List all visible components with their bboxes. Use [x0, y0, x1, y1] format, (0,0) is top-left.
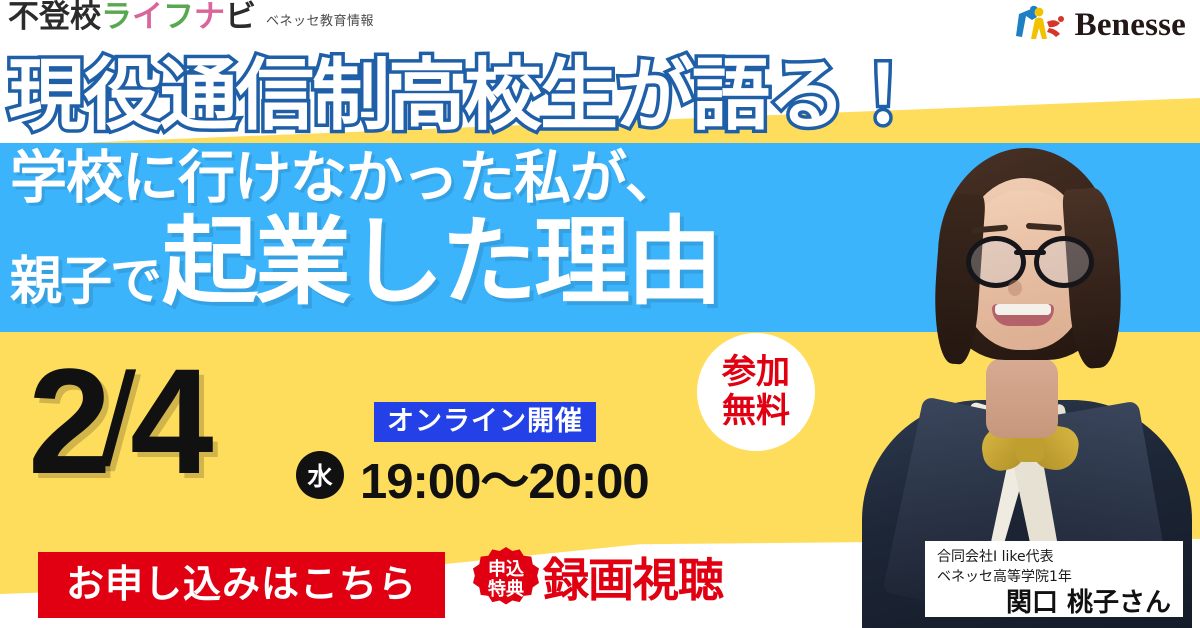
- event-month: 2: [28, 358, 105, 484]
- benesse-logo[interactable]: Benesse: [1011, 3, 1186, 47]
- site-logo-fu: フ: [163, 0, 194, 35]
- event-banner: 不登校ライフナビ ベネッセ教育情報 Benesse 現役通信制高校生が語る！ 学…: [0, 0, 1200, 628]
- speaker-name: 関口 桃子さん: [937, 589, 1171, 618]
- site-logo-kanji: 不登校: [8, 0, 101, 35]
- speaker-photo-mouth: [992, 304, 1054, 326]
- speaker-affiliation-line-1: 合同会社I like代表: [937, 548, 1171, 568]
- free-admission-badge: 参加 無料: [697, 333, 815, 451]
- banner-header: 不登校ライフナビ ベネッセ教育情報 Benesse: [0, 0, 1200, 48]
- bonus-seal-line-2: 特典: [488, 581, 524, 600]
- bonus-group: 申込 特典 録画視聴: [473, 547, 723, 613]
- speaker-affiliation-line-2: ベネッセ高等学院1年: [937, 568, 1171, 588]
- ribbon-knot: [1016, 434, 1044, 462]
- speaker-photo-glasses: [966, 236, 1094, 280]
- speaker-photo-nose: [1008, 280, 1022, 296]
- event-day: 4: [130, 358, 207, 484]
- site-logo-na: ナ: [194, 0, 225, 35]
- event-date: 2 / 4: [28, 358, 208, 484]
- bonus-seal-icon: 申込 特典: [473, 547, 539, 613]
- headline-line-3: 親子で 起業した理由: [10, 216, 720, 308]
- bonus-label: 録画視聴: [543, 557, 723, 603]
- site-logo-i: イ: [132, 0, 163, 35]
- site-logo[interactable]: 不登校ライフナビ ベネッセ教育情報: [8, 2, 374, 33]
- site-subtitle: ベネッセ教育情報: [266, 10, 374, 29]
- headline-line-3-prefix: 親子で: [10, 258, 160, 308]
- event-time: 19:00〜20:00: [360, 458, 649, 507]
- site-logo-bi: ビ: [225, 0, 256, 35]
- headline-line-3-emphasis: 起業した理由: [162, 216, 720, 308]
- apply-button[interactable]: お申し込みはこちら: [38, 552, 445, 618]
- glasses-lens-right: [1034, 236, 1094, 288]
- speaker-nameplate: 合同会社I like代表 ベネッセ高等学院1年 関口 桃子さん: [925, 541, 1183, 617]
- headline-line-1: 現役通信制高校生が語る！: [8, 50, 968, 142]
- site-logo-ra: ラ: [101, 0, 132, 35]
- speaker-photo-teeth: [995, 304, 1051, 315]
- benesse-people-mark-icon: [1011, 3, 1069, 47]
- free-admission-line-2: 無料: [722, 393, 790, 430]
- site-logo-text: 不登校ライフナビ: [8, 2, 256, 33]
- online-format-badge: オンライン開催: [374, 402, 596, 442]
- bonus-seal-line-1: 申込: [488, 561, 524, 580]
- benesse-wordmark: Benesse: [1075, 9, 1186, 42]
- headline-line-1-text: 現役通信制高校生が語る！: [8, 51, 920, 141]
- event-weekday-badge: 水: [296, 451, 344, 499]
- speaker-photo-neck: [986, 358, 1058, 438]
- free-admission-line-1: 参加: [722, 354, 790, 391]
- headline-line-2: 学校に行けなかった私が、: [10, 150, 681, 207]
- glasses-bridge: [1014, 250, 1046, 255]
